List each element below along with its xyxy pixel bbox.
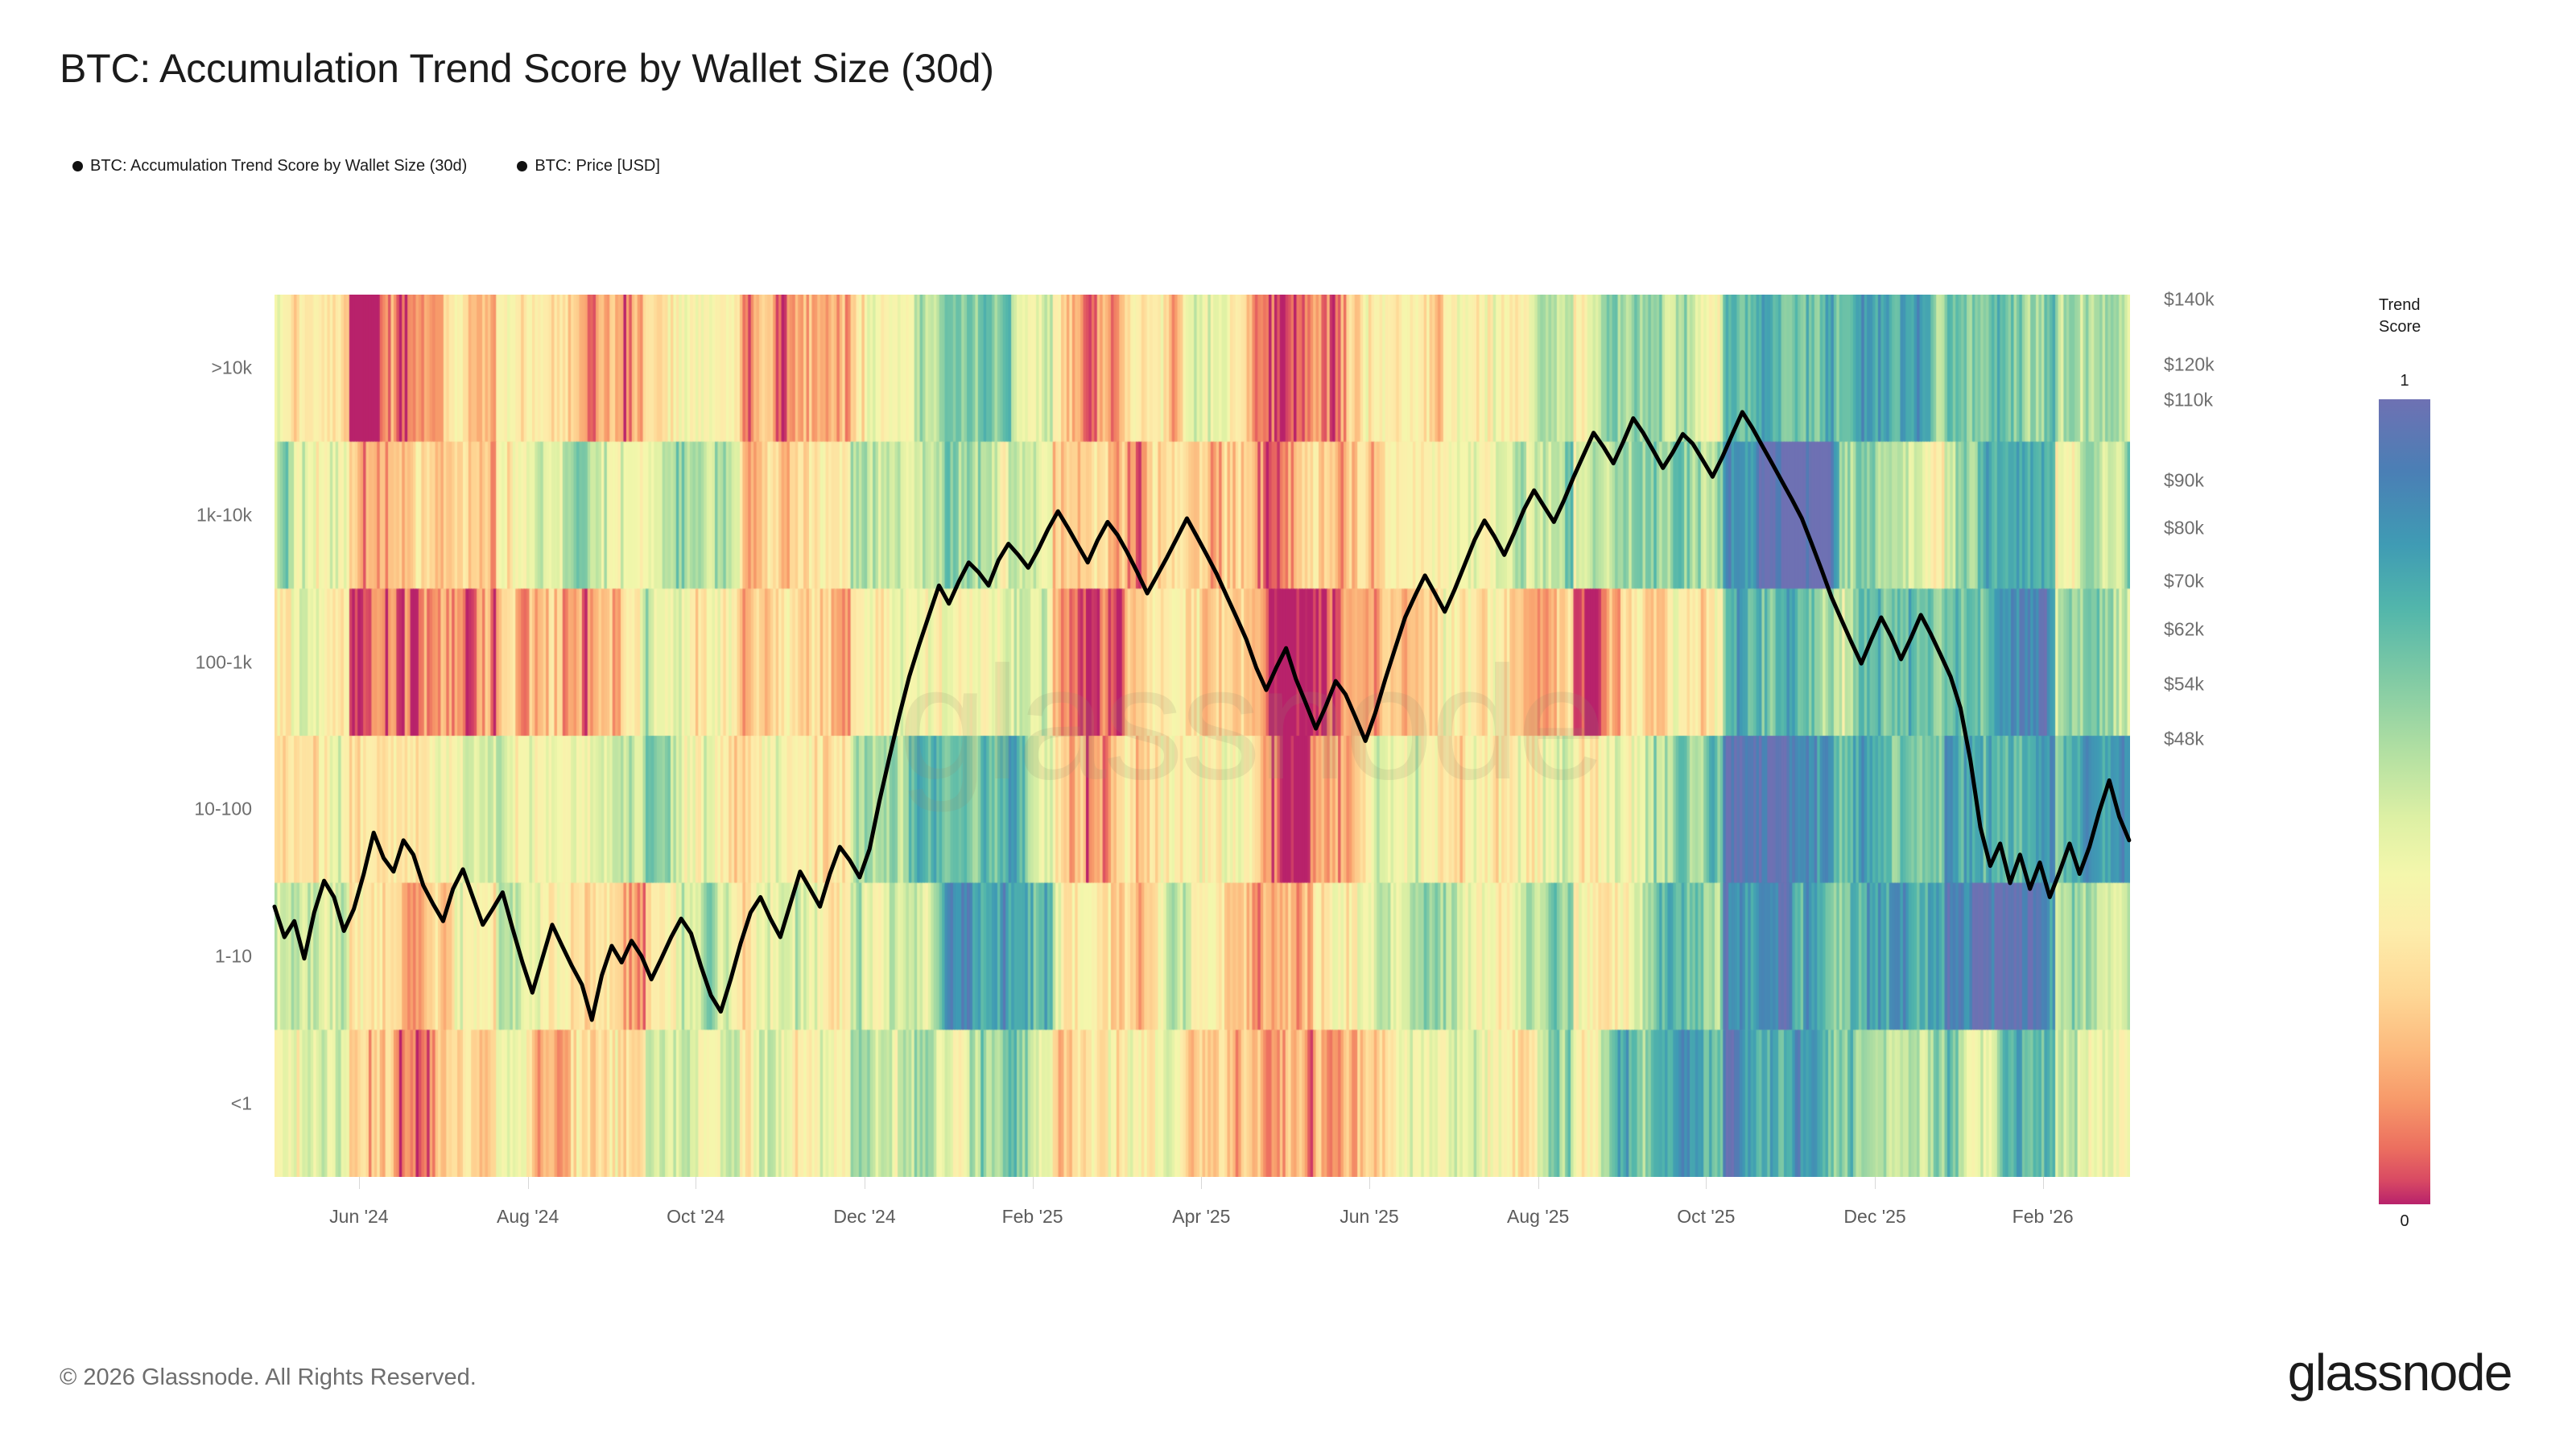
colorbar-max-label: 1 [2379, 372, 2430, 390]
y-tick-wallet-5: <1 [231, 1092, 252, 1114]
y-tick-price-2: $110k [2164, 389, 2213, 411]
x-tick-label-1: Aug '24 [497, 1206, 559, 1228]
x-tick-mark-4 [1033, 1177, 1034, 1189]
plot-area[interactable]: glassnode [275, 295, 2130, 1177]
y-tick-wallet-3: 10-100 [194, 799, 252, 820]
x-tick-label-5: Apr '25 [1172, 1206, 1230, 1228]
y-tick-wallet-4: 1-10 [215, 946, 252, 968]
x-tick-label-3: Dec '24 [833, 1206, 895, 1228]
x-tick-label-6: Jun '25 [1340, 1206, 1398, 1228]
x-tick-label-4: Feb '25 [1002, 1206, 1063, 1228]
page-title: BTC: Accumulation Trend Score by Wallet … [60, 45, 994, 92]
x-tick-mark-6 [1369, 1177, 1370, 1189]
legend-item-price[interactable]: BTC: Price [USD] [517, 157, 660, 175]
footer-copyright: © 2026 Glassnode. All Rights Reserved. [60, 1364, 477, 1391]
y-tick-price-1: $120k [2164, 354, 2215, 376]
y-tick-price-4: $80k [2164, 517, 2204, 539]
x-axis-timeline: Jun '24Aug '24Oct '24Dec '24Feb '25Apr '… [275, 1177, 2130, 1241]
x-tick-mark-5 [1201, 1177, 1202, 1189]
x-tick-mark-10 [2043, 1177, 2044, 1189]
legend-label: BTC: Price [USD] [535, 157, 660, 175]
x-tick-label-8: Oct '25 [1677, 1206, 1735, 1228]
y-tick-price-0: $140k [2164, 289, 2215, 311]
y-tick-price-5: $70k [2164, 570, 2204, 592]
legend-label: BTC: Accumulation Trend Score by Wallet … [90, 157, 467, 175]
y-tick-wallet-0: >10k [211, 357, 252, 379]
x-tick-mark-3 [865, 1177, 865, 1189]
x-tick-label-7: Aug '25 [1507, 1206, 1569, 1228]
y-tick-wallet-1: 1k-10k [196, 505, 252, 526]
x-tick-mark-2 [696, 1177, 696, 1189]
x-tick-label-2: Oct '24 [667, 1206, 724, 1228]
y-tick-price-8: $48k [2164, 729, 2204, 750]
x-tick-mark-1 [528, 1177, 529, 1189]
y-tick-price-3: $90k [2164, 469, 2204, 491]
y-tick-price-6: $62k [2164, 618, 2204, 640]
legend-item-trend-score[interactable]: BTC: Accumulation Trend Score by Wallet … [72, 157, 467, 175]
x-tick-mark-9 [1875, 1177, 1876, 1189]
y-tick-price-7: $54k [2164, 674, 2204, 696]
y-tick-wallet-2: 100-1k [196, 651, 252, 673]
price-line-path [275, 412, 2129, 1020]
chart-legend: BTC: Accumulation Trend Score by Wallet … [72, 155, 660, 176]
x-tick-label-9: Dec '25 [1843, 1206, 1905, 1228]
colorbar-title-line2: Score [2379, 316, 2483, 338]
y-axis-wallet-size: >10k1k-10k100-1k10-1001-10<1 [0, 295, 252, 1177]
x-tick-mark-7 [1538, 1177, 1539, 1189]
x-tick-label-10: Feb '26 [2013, 1206, 2074, 1228]
x-tick-mark-0 [359, 1177, 360, 1189]
colorbar-gradient[interactable] [2379, 399, 2430, 1204]
legend-dot-icon [72, 161, 83, 171]
x-tick-label-0: Jun '24 [329, 1206, 388, 1228]
colorbar-legend[interactable]: Trend Score 1 0 [2318, 295, 2495, 1220]
chart-root: BTC: Accumulation Trend Score by Wallet … [0, 0, 2576, 1449]
price-line-overlay [275, 295, 2130, 1177]
legend-dot-icon [517, 161, 527, 171]
brand-logo: glassnode [2288, 1343, 2512, 1402]
colorbar-title: Trend Score [2379, 295, 2483, 338]
colorbar-min-label: 0 [2379, 1212, 2430, 1231]
colorbar-title-line1: Trend [2379, 295, 2483, 316]
x-tick-mark-8 [1706, 1177, 1707, 1189]
